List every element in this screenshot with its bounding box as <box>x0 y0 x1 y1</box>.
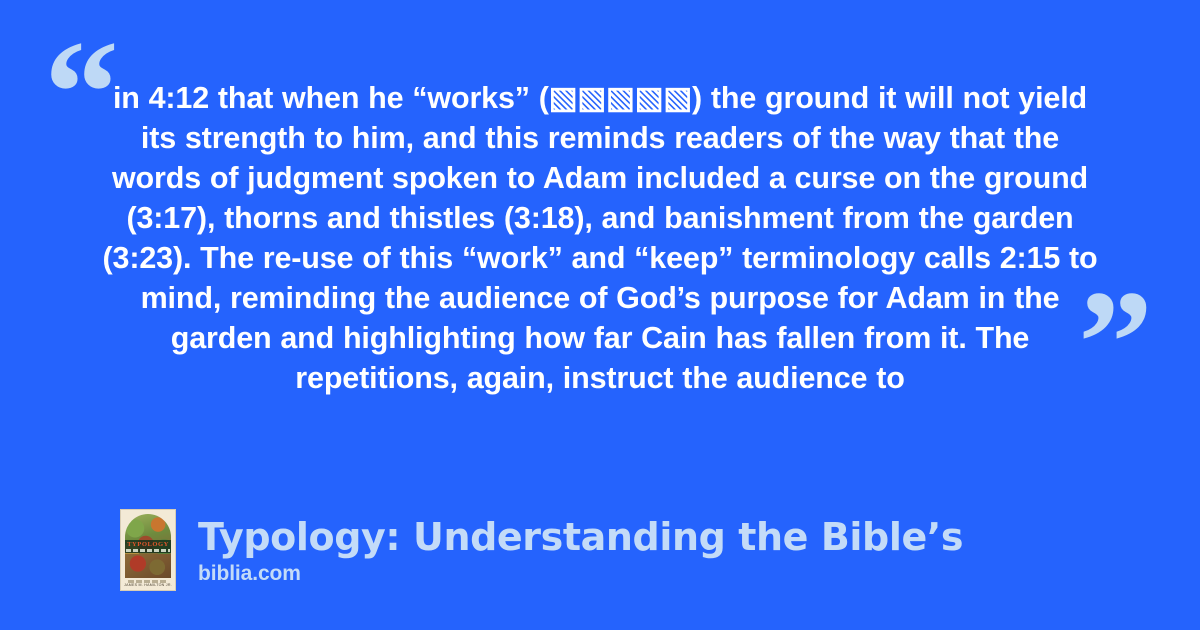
quote-block: “ in 4:12 that when he “works” (▧▧▧▧▧) t… <box>0 0 1200 470</box>
close-quote-icon: ” <box>1078 268 1151 418</box>
quote-share-card: “ in 4:12 that when he “works” (▧▧▧▧▧) t… <box>0 0 1200 630</box>
site-domain: biblia.com <box>198 561 963 586</box>
book-title: Typology: Understanding the Bible’s <box>198 515 963 559</box>
book-cover-thumbnail: TYPOLOGY JAMES M. HAMILTON JR. <box>120 509 176 591</box>
cover-author-text: JAMES M. HAMILTON JR. <box>121 583 175 587</box>
cover-lower-illustration <box>125 554 171 578</box>
quote-text: in 4:12 that when he “works” (▧▧▧▧▧) the… <box>96 78 1104 398</box>
cover-subtitle-lines <box>126 549 170 552</box>
cover-title-text: TYPOLOGY <box>121 541 175 548</box>
footer-text-group: Typology: Understanding the Bible’s bibl… <box>198 515 963 586</box>
footer: TYPOLOGY JAMES M. HAMILTON JR. Typology:… <box>120 505 1120 595</box>
